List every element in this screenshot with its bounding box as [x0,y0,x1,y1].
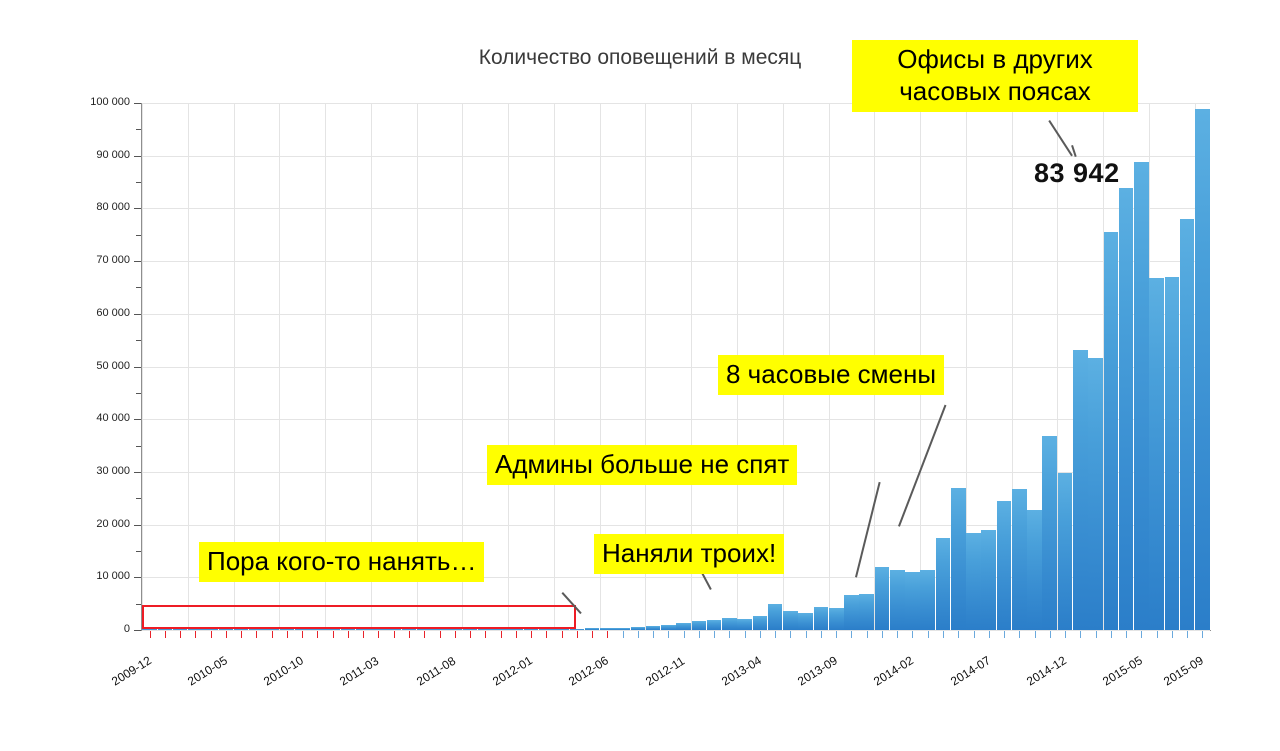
bar [753,616,768,630]
bar [1119,188,1134,630]
x-tick-mark [165,631,166,638]
bar [859,594,874,630]
x-tick-mark [546,631,547,638]
x-tick-label: 2012-01 [490,653,535,688]
bar [1088,358,1103,630]
x-tick-mark [943,631,944,638]
x-tick-label: 2011-03 [338,654,382,689]
x-tick-label: 2012-06 [566,653,611,688]
x-tick-mark [699,631,700,638]
x-tick-mark [1187,631,1188,638]
y-tick-label: 100 000 [10,96,130,108]
bar [783,611,798,630]
bar [524,629,539,630]
x-tick-mark [241,631,242,638]
bar [371,629,386,630]
x-tick-label: 2010-05 [185,653,230,688]
x-tick-label: 2015-05 [1100,653,1145,688]
x-tick-mark [729,631,730,638]
bar [829,608,844,630]
x-tick-mark [882,631,883,638]
x-tick-mark [1080,631,1081,638]
y-tick-label: 0 [10,623,130,635]
x-tick-mark [562,631,563,638]
x-tick-mark [1157,631,1158,638]
x-tick-mark [333,631,334,638]
y-tick-label: 60 000 [10,307,130,319]
y-tick-label: 50 000 [10,360,130,372]
x-tick-mark [195,631,196,638]
x-tick-mark [394,631,395,638]
y-tick-label: 20 000 [10,518,130,530]
x-tick-label: 2014-12 [1024,653,1069,688]
x-tick-mark [440,631,441,638]
x-tick-mark [1141,631,1142,638]
bar [264,629,279,630]
x-tick-mark [806,631,807,638]
bar [951,488,966,630]
bar [295,629,310,630]
x-tick-mark [455,631,456,638]
x-tick-mark [424,631,425,638]
value-label-83942: 83 942 [1034,158,1120,189]
bar [508,629,523,630]
bar [447,629,462,630]
callout-offices-timezones-line1: Офисы в других [897,44,1092,74]
bar [539,629,554,630]
bar [325,629,340,630]
x-tick-mark [180,631,181,638]
bar [219,629,234,630]
bar [463,629,478,630]
x-tick-mark [1035,631,1036,638]
x-tick-mark [989,631,990,638]
callout-offices-timezones-line2: часовых поясах [899,76,1091,106]
x-tick-mark [638,631,639,638]
bar [1012,489,1027,630]
bar [768,604,783,630]
bar [203,629,218,630]
bar [478,629,493,630]
callout-hired-three: Наняли троих! [594,534,784,574]
bar [661,625,676,630]
x-tick-mark [1050,631,1051,638]
x-tick-mark [912,631,913,638]
bar [1165,277,1180,630]
x-tick-label: 2011-08 [414,654,458,689]
x-tick-mark [714,631,715,638]
x-tick-mark [485,631,486,638]
bar [997,501,1012,630]
x-tick-label: 2013-09 [795,653,840,688]
bar [432,629,447,630]
x-tick-mark [974,631,975,638]
x-tick-mark [531,631,532,638]
bar [1058,473,1073,630]
x-tick-mark [851,631,852,638]
x-tick-mark [516,631,517,638]
bar [341,629,356,630]
bar [1042,436,1057,630]
bar [692,621,707,630]
bar [814,607,829,630]
y-tick-label: 80 000 [10,201,130,213]
bar [966,533,981,630]
bar [890,570,905,630]
x-tick-mark [653,631,654,638]
x-tick-mark [501,631,502,638]
x-tick-mark [1126,631,1127,638]
bar [1073,350,1088,630]
bar [615,628,630,630]
x-tick-mark [577,631,578,638]
x-tick-mark [684,631,685,638]
early-period-highlight-rect [142,605,576,629]
x-tick-mark [272,631,273,638]
x-tick-mark [1019,631,1020,638]
y-tick-label: 90 000 [10,149,130,161]
bar [1104,232,1119,630]
x-tick-mark [1202,631,1203,638]
bar [1195,109,1210,630]
bar [493,629,508,630]
callout-admins-no-sleep: Админы больше не спят [487,445,797,485]
bar [722,618,737,630]
x-tick-mark [317,631,318,638]
bar [646,626,661,630]
x-tick-mark [607,631,608,638]
x-tick-mark [668,631,669,638]
x-tick-mark [256,631,257,638]
x-tick-mark [928,631,929,638]
x-tick-mark [348,631,349,638]
bar [936,538,951,630]
x-tick-mark [760,631,761,638]
bar [798,613,813,630]
x-tick-label: 2014-07 [948,653,993,688]
x-tick-mark [1111,631,1112,638]
bar [188,629,203,630]
x-tick-mark [821,631,822,638]
bar [158,629,173,630]
bar [631,627,646,630]
bar [1027,510,1042,630]
x-tick-mark [409,631,410,638]
bar [1134,162,1149,631]
bar [737,619,752,630]
bar [875,567,890,630]
bar [417,629,432,630]
x-tick-mark [1065,631,1066,638]
bar [402,629,417,630]
x-tick-mark [363,631,364,638]
bar [844,595,859,630]
x-tick-mark [211,631,212,638]
bar [981,530,996,630]
bar [905,572,920,630]
x-tick-mark [1004,631,1005,638]
x-tick-label: 2014-02 [872,653,917,688]
x-tick-mark [958,631,959,638]
bar [920,570,935,630]
x-tick-mark [775,631,776,638]
bar [310,629,325,630]
x-tick-mark [287,631,288,638]
bar [676,623,691,630]
x-tick-mark [836,631,837,638]
bar [1149,278,1164,630]
x-tick-label: 2012-11 [643,654,687,689]
callout-eight-hour-shifts: 8 часовые смены [718,355,944,395]
x-tick-mark [745,631,746,638]
y-tick-label: 10 000 [10,570,130,582]
bar [173,629,188,630]
x-tick-mark [226,631,227,638]
callout-hire-someone: Пора кого-то нанять… [199,542,484,582]
x-tick-mark [790,631,791,638]
bar [707,620,722,630]
bar [1180,219,1195,630]
bar [600,628,615,630]
bar [142,629,157,630]
x-tick-mark [1172,631,1173,638]
x-tick-mark [378,631,379,638]
y-axis-labels: 010 00020 00030 00040 00050 00060 00070 … [0,0,130,751]
bar [249,629,264,630]
x-tick-mark [302,631,303,638]
y-tick-label: 40 000 [10,412,130,424]
bar [585,628,600,630]
x-tick-label: 2010-10 [261,653,306,688]
x-tick-mark [592,631,593,638]
callout-offices-timezones: Офисы в других часовых поясах [852,40,1138,112]
bar [234,629,249,630]
x-tick-mark [897,631,898,638]
chart-canvas: Количество оповещений в месяц 010 00020 … [0,0,1280,751]
bar [280,629,295,630]
x-tick-label: 2015-09 [1161,653,1206,688]
chart-title: Количество оповещений в месяц [430,46,850,70]
y-tick-label: 30 000 [10,465,130,477]
x-tick-mark [623,631,624,638]
x-tick-label: 2013-04 [719,653,764,688]
bar [356,629,371,630]
x-tick-mark [150,631,151,638]
x-tick-mark [867,631,868,638]
x-tick-mark [1096,631,1097,638]
y-tick-label: 70 000 [10,254,130,266]
bar [386,629,401,630]
x-tick-mark [470,631,471,638]
